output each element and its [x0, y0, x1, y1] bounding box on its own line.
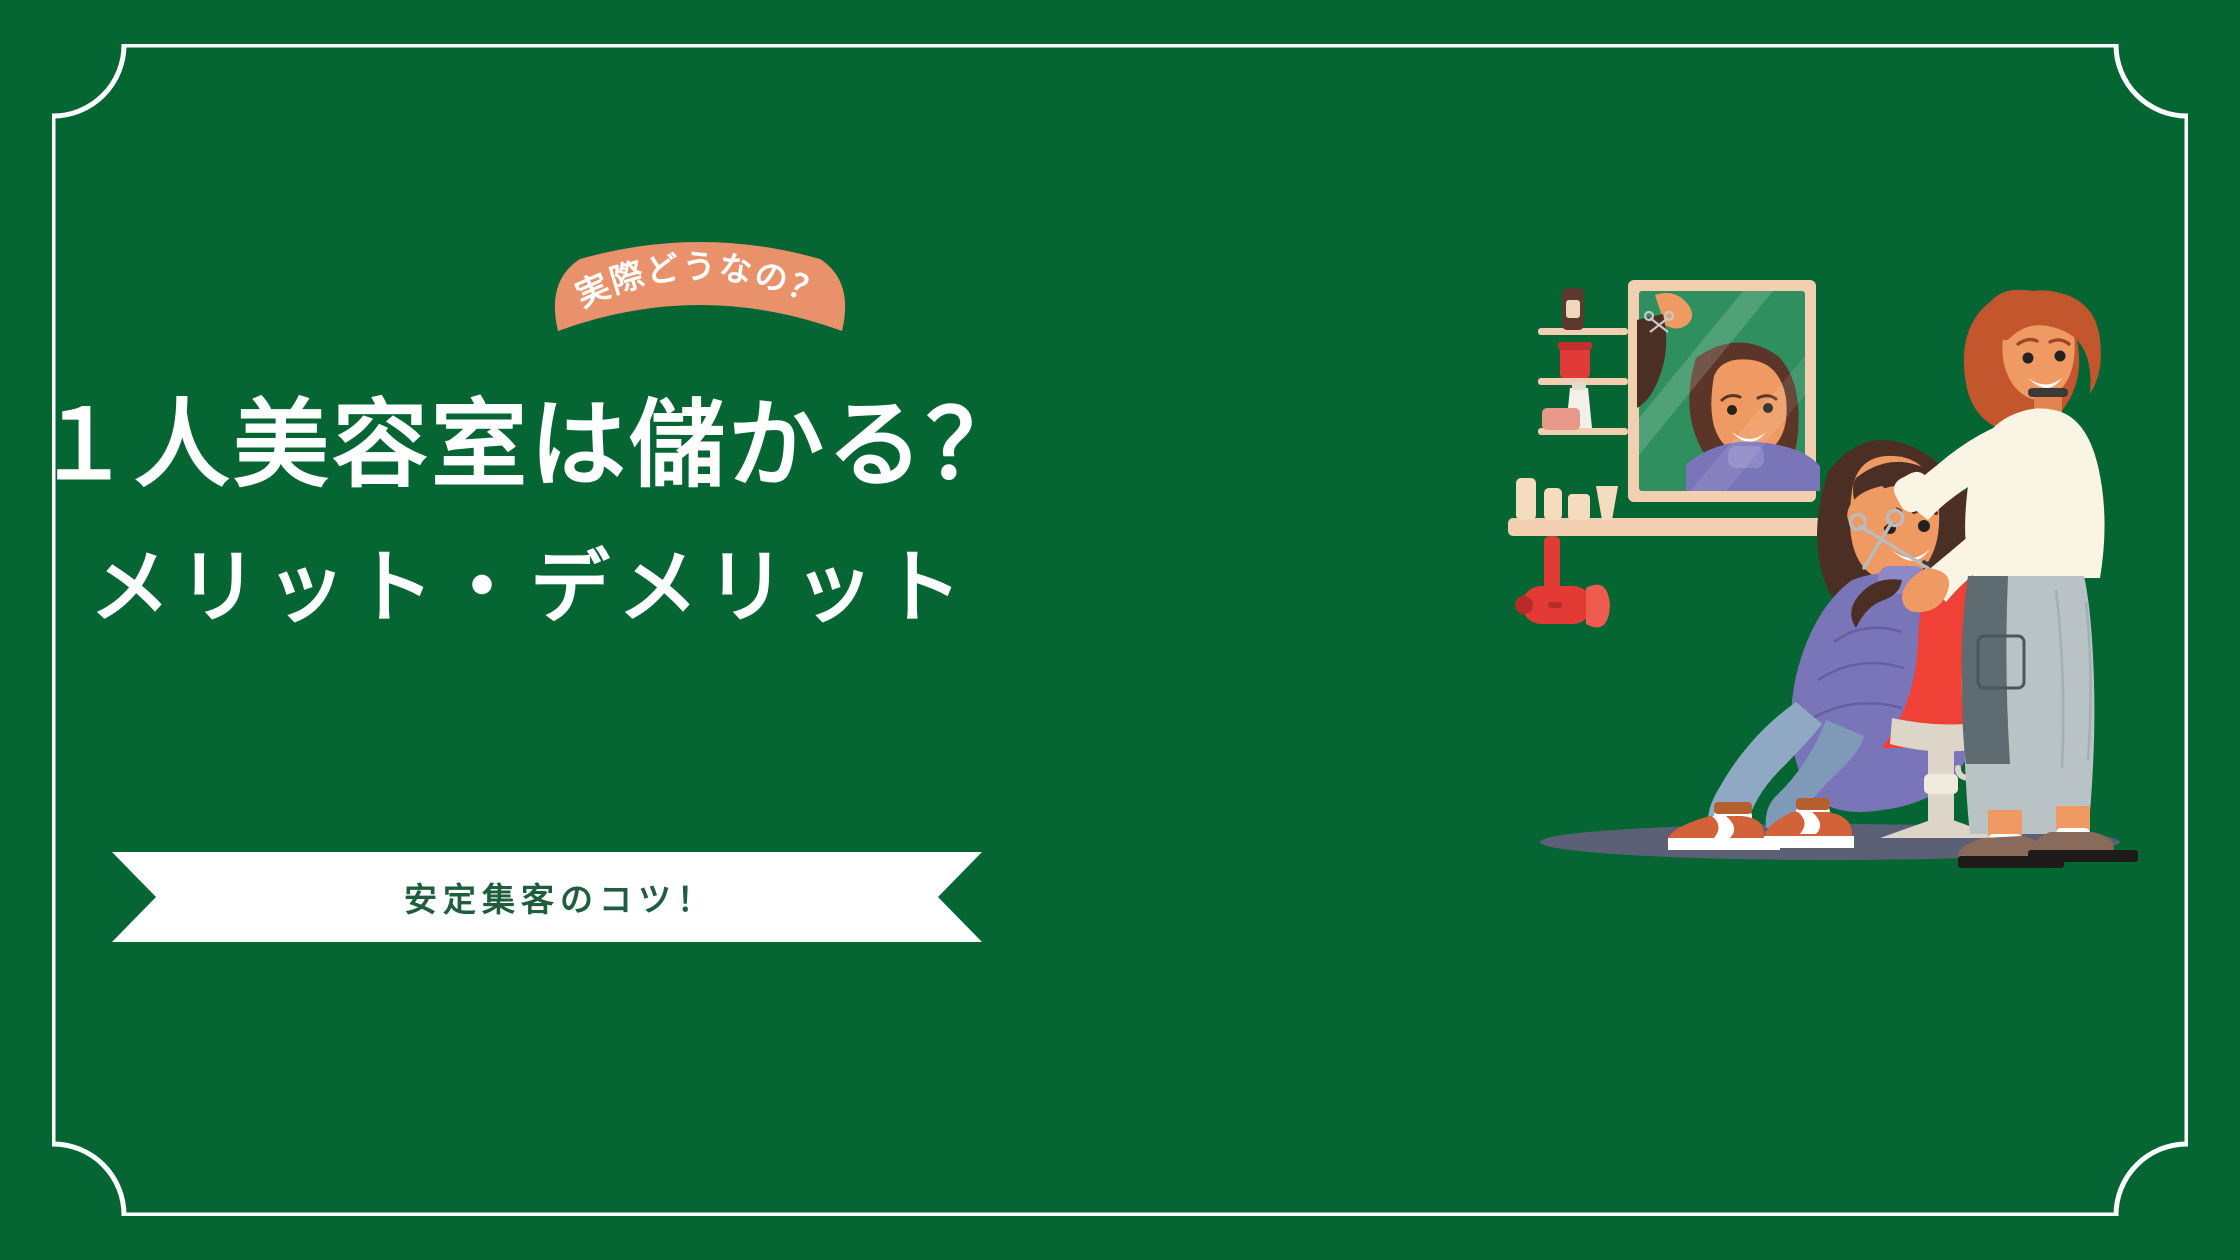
headline-line-2: メリット・デメリット — [0, 540, 1060, 636]
headline-line-1: １人美容室は儲かる？ — [0, 392, 1060, 500]
box-icon — [1542, 408, 1580, 430]
headline-block: １人美容室は儲かる？ メリット・デメリット — [0, 392, 1060, 636]
jar-icon — [1560, 346, 1590, 378]
ribbon-banner: 安定集客のコツ！ — [112, 852, 982, 942]
hair-salon-illustration — [1500, 250, 2220, 900]
product-shelf — [1538, 288, 1628, 435]
ribbon-label: 安定集客のコツ！ — [112, 852, 982, 942]
badge-実際どうなの: 実際どうなの？ — [540, 243, 860, 353]
hair-dryer-icon — [1515, 536, 1610, 627]
poster-canvas: 実際どうなの？ １人美容室は儲かる？ メリット・デメリット 安定集客のコツ！ — [0, 0, 2240, 1260]
wall-mirror — [1628, 280, 1820, 502]
